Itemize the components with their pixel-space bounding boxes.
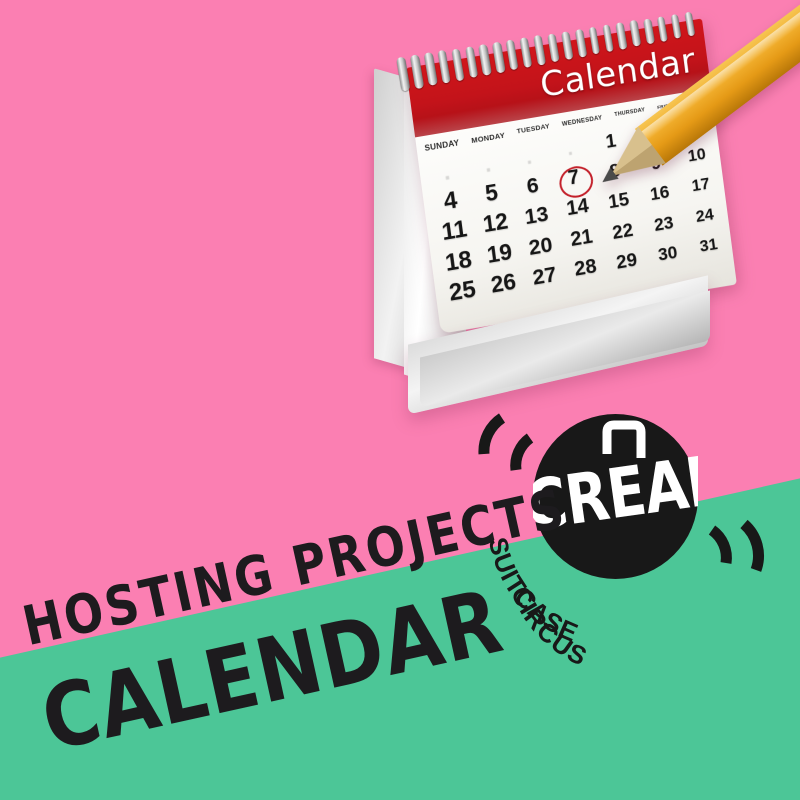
calendar-day-cell[interactable]: 12 <box>473 208 517 240</box>
calendar-day-cell[interactable]: 18 <box>436 245 480 277</box>
scream-logo-badge[interactable]: SCREAM <box>533 414 698 579</box>
calendar-day-cell[interactable]: 16 <box>638 181 682 213</box>
badge-artwork: SCREAM <box>533 414 698 579</box>
calendar-day-cell[interactable]: 22 <box>601 218 645 250</box>
spiral-ring <box>575 29 587 58</box>
spiral-ring <box>630 20 642 47</box>
scream-wordmark: SCREAM <box>533 437 698 552</box>
spiral-ring <box>451 48 465 81</box>
calendar-day-blank: . <box>548 135 592 167</box>
calendar-day-cell[interactable]: 11 <box>432 215 476 247</box>
calendar-day-cell[interactable]: 19 <box>477 238 521 270</box>
spiral-ring <box>602 24 614 52</box>
calendar-day-cell[interactable]: 23 <box>642 211 686 243</box>
spiral-ring <box>520 37 533 68</box>
spiral-ring <box>437 50 451 84</box>
calendar-day-blank: . <box>424 155 468 187</box>
calendar-day-cell[interactable]: 5 <box>470 178 514 210</box>
spiral-ring <box>684 12 695 37</box>
poster-canvas: Calendar SUNDAYMONDAYTUESDAYWEDNESDAYTHU… <box>0 0 800 800</box>
calendar-day-cell[interactable]: 24 <box>683 204 727 236</box>
calendar-day-cell[interactable]: 4 <box>428 185 472 217</box>
calendar-day-cell[interactable]: 17 <box>679 174 723 206</box>
calendar-day-cell[interactable]: 7 <box>552 165 596 197</box>
spiral-ring <box>657 16 668 42</box>
spiral-ring <box>671 14 682 39</box>
spiral-ring <box>533 35 546 65</box>
calendar-day-cell[interactable]: 13 <box>515 201 559 233</box>
spiral-ring <box>547 33 560 63</box>
spiral-ring <box>465 46 479 79</box>
spiral-ring <box>492 42 505 74</box>
spiral-ring <box>616 22 628 49</box>
spiral-ring <box>561 31 573 60</box>
spiral-ring <box>506 39 519 70</box>
spiral-ring <box>410 54 424 89</box>
calendar-day-blank: . <box>466 148 510 180</box>
calendar-day-blank: . <box>507 142 551 174</box>
spiral-ring <box>478 44 491 76</box>
calendar-day-cell[interactable]: 20 <box>519 231 563 263</box>
calendar-day-cell[interactable]: 14 <box>556 195 600 227</box>
spiral-ring <box>423 52 437 86</box>
spiral-ring <box>643 18 654 44</box>
calendar-day-cell[interactable]: 21 <box>560 225 604 257</box>
calendar-day-cell[interactable]: 6 <box>511 172 555 204</box>
spiral-ring <box>588 27 600 55</box>
